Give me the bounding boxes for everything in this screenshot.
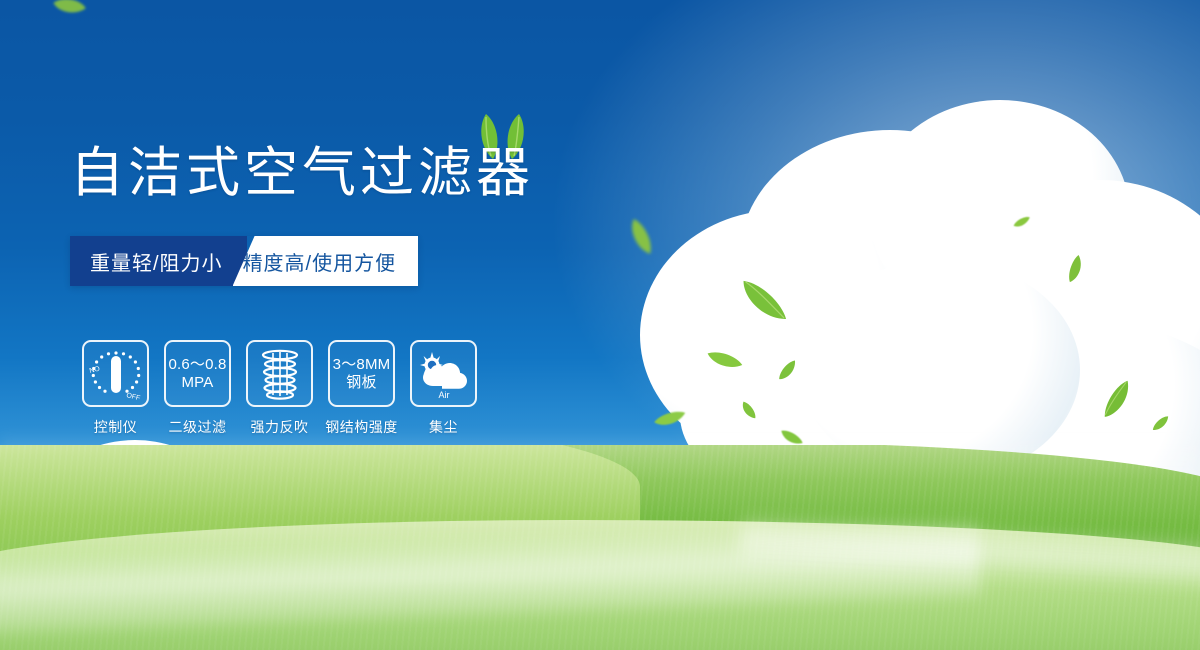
feature-icon-box (246, 340, 313, 407)
steel-plate-value-icon: 3～8MM 钢板 (333, 356, 391, 391)
feature-label: 二级过滤 (169, 417, 227, 437)
pressure-value-icon: 0.6～0.8 MPA (168, 356, 226, 391)
feature-icon-box: NO OFF (82, 340, 149, 407)
feature-text-line2: MPA (168, 374, 226, 391)
feature-text-line2: 钢板 (333, 374, 391, 391)
banner-stage: 自洁式空气过滤器 重量轻/阻力小 精度高/使用方便 (0, 0, 1200, 650)
page-title: 自洁式空气过滤器 (70, 146, 534, 200)
gauge-controller-icon: NO OFF (86, 345, 146, 403)
tagline-bar: 重量轻/阻力小 精度高/使用方便 (70, 236, 418, 286)
tagline-primary: 重量轻/阻力小 (70, 236, 247, 286)
feature-item[interactable]: 强力反吹 (242, 340, 317, 437)
feature-label: 集尘 (429, 417, 458, 437)
feature-text-line1: 3～8MM (333, 356, 391, 373)
air-caption: Air (438, 390, 449, 400)
feature-text-line1: 0.6～0.8 (168, 356, 226, 373)
feature-item[interactable]: NO OFF 控制仪 (78, 340, 153, 437)
feature-icon-box: 0.6～0.8 MPA (164, 340, 231, 407)
tagline-secondary: 精度高/使用方便 (233, 236, 419, 286)
filter-cartridge-icon (255, 347, 305, 401)
feature-label: 强力反吹 (251, 417, 309, 437)
feature-icon-box: Air (410, 340, 477, 407)
dial-off-label: OFF (125, 392, 140, 402)
feature-item[interactable]: 3～8MM 钢板 钢结构强度 (324, 340, 399, 437)
feature-label: 钢结构强度 (325, 417, 398, 437)
feature-label: 控制仪 (94, 417, 138, 437)
air-cloud-icon: Air (415, 346, 473, 402)
dial-on-label: NO (88, 365, 100, 374)
feature-icon-box: 3～8MM 钢板 (328, 340, 395, 407)
feature-list: NO OFF 控制仪 0.6～0.8 MPA 二级过滤 (78, 340, 481, 437)
feature-item[interactable]: 0.6～0.8 MPA 二级过滤 (160, 340, 235, 437)
banner-content: 自洁式空气过滤器 重量轻/阻力小 精度高/使用方便 (0, 0, 1200, 650)
feature-item[interactable]: Air 集尘 (406, 340, 481, 437)
